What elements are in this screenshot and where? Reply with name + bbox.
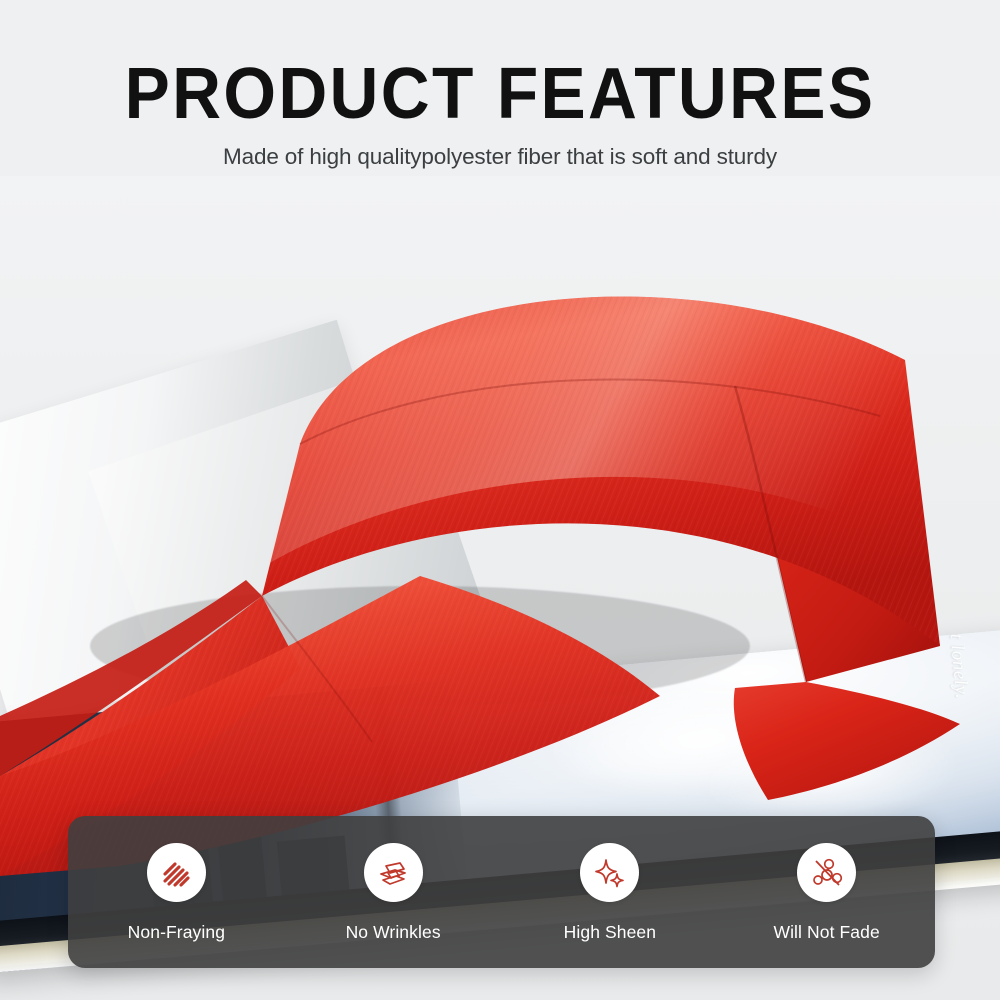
feature-item-no-wrinkles[interactable]: No Wrinkles	[285, 816, 502, 943]
sparkle-icon	[593, 856, 627, 890]
feature-item-non-fraying[interactable]: Non-Fraying	[68, 816, 285, 943]
feature-icon-badge	[580, 843, 639, 902]
feature-label: Non-Fraying	[128, 922, 225, 943]
feature-item-high-sheen[interactable]: High Sheen	[502, 816, 719, 943]
feature-icon-badge	[797, 843, 856, 902]
feature-icon-badge	[147, 843, 206, 902]
folded-fabric-icon	[376, 856, 410, 890]
feature-label: Will Not Fade	[773, 922, 879, 943]
molecule-no-fade-icon	[810, 856, 844, 890]
feature-label: No Wrinkles	[346, 922, 441, 943]
feature-icon-badge	[364, 843, 423, 902]
feature-bar: Non-Fraying No Wrinkles	[68, 816, 935, 968]
ribbon-right-fold	[734, 682, 960, 800]
page-subtitle: Made of high qualitypolyester fiber that…	[0, 130, 1000, 170]
feature-item-will-not-fade[interactable]: Will Not Fade	[718, 816, 935, 943]
product-feature-image: PRODUCT FEATURES Made of high qualitypol…	[0, 0, 1000, 1000]
page-title: PRODUCT FEATURES	[30, 0, 970, 130]
feature-label: High Sheen	[564, 922, 656, 943]
header: PRODUCT FEATURES Made of high qualitypol…	[0, 0, 1000, 170]
woven-threads-icon	[159, 856, 193, 890]
